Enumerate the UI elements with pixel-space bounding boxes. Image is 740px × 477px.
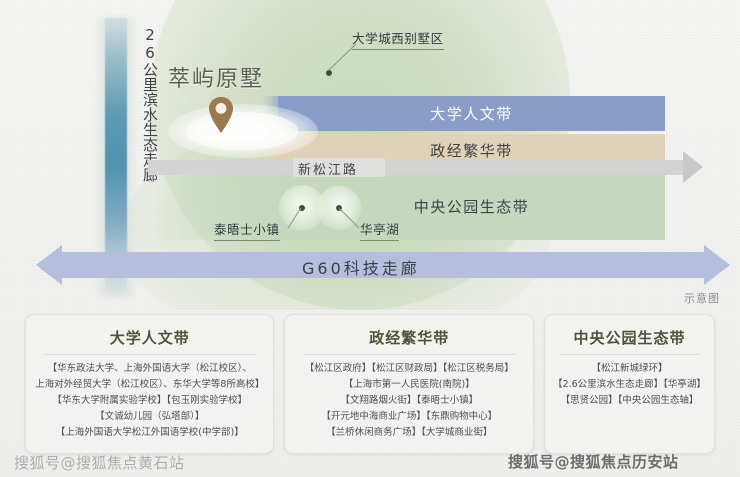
road-bar xyxy=(148,160,685,175)
card-line-list: 【华东政法大学、上海外国语大学（松江校区）、 上海对外经贸大学（松江校区）、东华… xyxy=(34,362,265,439)
belt-detail-cards: 大学人文带 【华东政法大学、上海外国语大学（松江校区）、 上海对外经贸大学（松江… xyxy=(0,314,740,454)
sketch-note: 示意图 xyxy=(684,290,720,306)
corridor-arrow-right-icon xyxy=(704,245,730,285)
card-title: 中央公园生态带 xyxy=(573,327,685,348)
card-title: 政经繁华带 xyxy=(369,327,449,348)
card-line: 上海对外经贸大学（松江校区）、东华大学等8所高校】 xyxy=(35,378,264,391)
road-label: 新松江路 xyxy=(298,159,358,178)
card-line: 【思贤公园】【中央公园生态轴】 xyxy=(561,394,699,407)
card-ecology-belt: 中央公园生态带 【松江新城绿环】 【2.6公里滨水生态走廊】【华亭湖】 【思贤公… xyxy=(544,314,715,454)
card-line: 【上海外国语大学松江外国语学校(中学部)】 xyxy=(56,426,244,439)
belt-university: 大学人文带 xyxy=(278,96,665,131)
belt-economy-label: 政经繁华带 xyxy=(430,140,513,161)
card-line: 【松江新城绿环】 xyxy=(591,362,667,375)
road-arrow-head-icon xyxy=(683,151,703,183)
poi-label-villa-district: 大学城西别墅区 xyxy=(352,28,444,50)
card-line: 【松江区政府】【松江区财政局】【松江区税务局】 xyxy=(305,362,514,375)
card-line: 【兰桥休闲商务广场】【大学城商业街】 xyxy=(326,426,492,439)
card-line-list: 【松江新城绿环】 【2.6公里滨水生态走廊】【华亭湖】 【思贤公园】【中央公园生… xyxy=(553,362,706,407)
card-line: 【华东政法大学、上海外国语大学（松江校区）、 xyxy=(48,362,252,375)
card-line: 【2.6公里滨水生态走廊】【华亭湖】 xyxy=(553,378,706,391)
leader-line-thames-town xyxy=(286,206,306,232)
map-pin-icon xyxy=(207,96,235,134)
card-divider xyxy=(303,354,516,355)
card-line: 【文翔路烟火街】【泰晤士小镇】 xyxy=(340,394,478,407)
card-line-list: 【松江区政府】【松江区财政局】【松江区税务局】 【上海市第一人民医院(南院)】 … xyxy=(293,362,524,439)
card-line: 【文诚幼儿园（弘塔部）】 xyxy=(95,410,204,423)
card-university-belt: 大学人文带 【华东政法大学、上海外国语大学（松江校区）、 上海对外经贸大学（松江… xyxy=(25,314,274,454)
project-halo-inner xyxy=(186,112,298,150)
card-line: 【开元地中海商业广场】【东鼎购物中心】 xyxy=(321,410,497,423)
corridor-arrow-left-icon xyxy=(36,245,62,285)
corridor-label: G60科技走廊 xyxy=(302,255,420,279)
watermark-right: 搜狐号@搜狐焦点历安站 xyxy=(508,451,679,472)
card-divider xyxy=(43,354,256,355)
belt-university-label: 大学人文带 xyxy=(430,103,513,124)
waterfront-corridor-label: 26公里滨水生态走廊 xyxy=(133,26,159,182)
poi-label-thames-town: 泰晤士小镇 xyxy=(214,219,280,241)
card-line: 【上海市第一人民医院(南院)】 xyxy=(344,378,475,391)
card-divider xyxy=(559,354,700,355)
map-illustration: 26公里滨水生态走廊 大学人文带 政经繁华带 中央公园生态带 新松江路 萃屿原墅… xyxy=(0,0,740,310)
waterfront-strip xyxy=(105,18,127,290)
card-title: 大学人文带 xyxy=(110,327,190,348)
card-economy-belt: 政经繁华带 【松江区政府】【松江区财政局】【松江区税务局】 【上海市第一人民医院… xyxy=(284,314,533,454)
poi-label-huating-lake: 华亭湖 xyxy=(360,219,399,241)
watermark-left: 搜狐号@搜狐焦点黄石站 xyxy=(14,452,185,473)
project-title: 萃屿原墅 xyxy=(168,61,264,93)
card-line: 【华东大学附属实验学校】【包玉刚实验学校】 xyxy=(52,394,247,407)
belt-ecology-label: 中央公园生态带 xyxy=(414,196,530,217)
